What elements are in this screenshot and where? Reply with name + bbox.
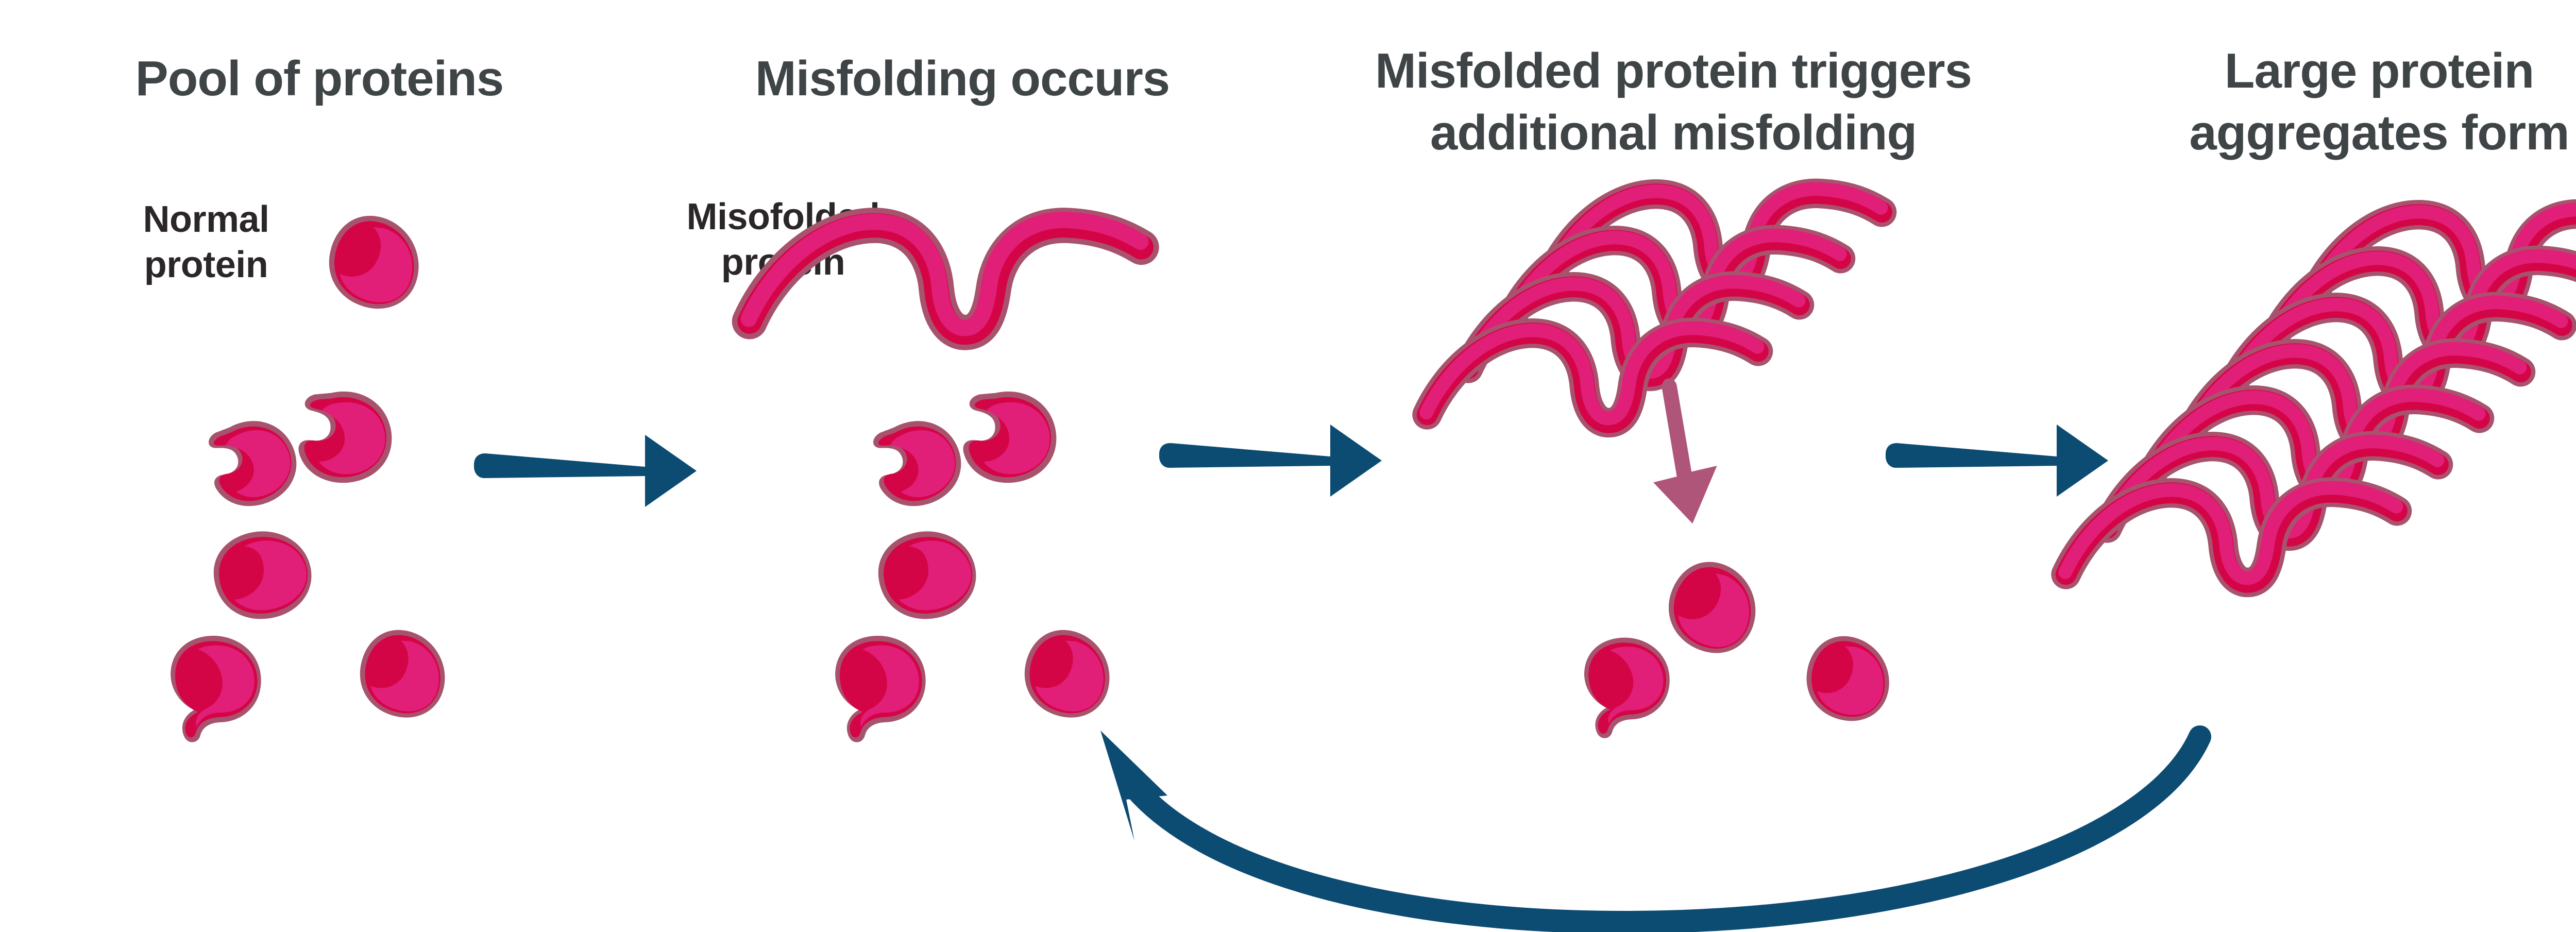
- normal-protein-blob: [204, 519, 321, 631]
- arrow-misfolding-to-trigger: [1159, 425, 1382, 497]
- normal-protein-label-line1: Normal: [143, 199, 269, 240]
- normal-protein-blob: [297, 390, 394, 484]
- normal-protein-blob: [1656, 551, 1770, 664]
- panel-heading-misfolding-occurs: Misfolding occurs: [755, 51, 1170, 106]
- normal-protein-blob: [352, 623, 454, 725]
- panel-heading-large-aggregates-line1: Large protein: [2225, 43, 2534, 98]
- misfolded-strand-cluster: [1427, 189, 1882, 423]
- normal-protein-blob: [961, 390, 1058, 484]
- panel-heading-pool-of-proteins: Pool of proteins: [135, 51, 504, 106]
- panel-large-aggregates-form: [2065, 210, 2576, 583]
- normal-protein-blob: [1582, 635, 1673, 739]
- panel-heading-misfolded-triggers-line2: additional misfolding: [1430, 105, 1917, 160]
- panel-heading-large-aggregates-line2: aggregates form: [2189, 105, 2569, 160]
- protein-misfolding-diagram: Pool of proteins Misfolding occurs Misfo…: [0, 0, 2576, 932]
- normal-protein-blob: [319, 207, 430, 317]
- normal-protein-blob: [869, 519, 986, 631]
- normal-protein-blob: [863, 410, 972, 516]
- diagram-canvas: Pool of proteins Misfolding occurs Misfo…: [0, 0, 2576, 932]
- normal-protein-blob: [199, 410, 307, 516]
- panel-pool-of-proteins: Normal protein: [143, 199, 453, 743]
- panel-headings: Pool of proteins Misfolding occurs Misfo…: [135, 43, 2569, 160]
- arrow-pool-to-misfolding: [474, 435, 697, 507]
- panel-misfolded-triggers-additional: [1427, 189, 1896, 739]
- normal-protein-blob: [833, 633, 929, 743]
- arrow-trigger-down: [1653, 379, 1717, 524]
- normal-protein-blob: [168, 633, 265, 743]
- normal-protein-blob: [1016, 623, 1118, 725]
- panel-heading-misfolded-triggers-line1: Misfolded protein triggers: [1375, 43, 1972, 98]
- normal-protein-blob: [1800, 630, 1897, 727]
- arrow-feedback-loop: [1100, 731, 2200, 922]
- panel-misfolding-occurs: Misofolded protein: [687, 196, 1142, 743]
- arrow-trigger-to-aggregate: [1886, 425, 2108, 497]
- normal-protein-label-line2: protein: [144, 244, 268, 285]
- protein-aggregate-cluster: [2065, 210, 2576, 583]
